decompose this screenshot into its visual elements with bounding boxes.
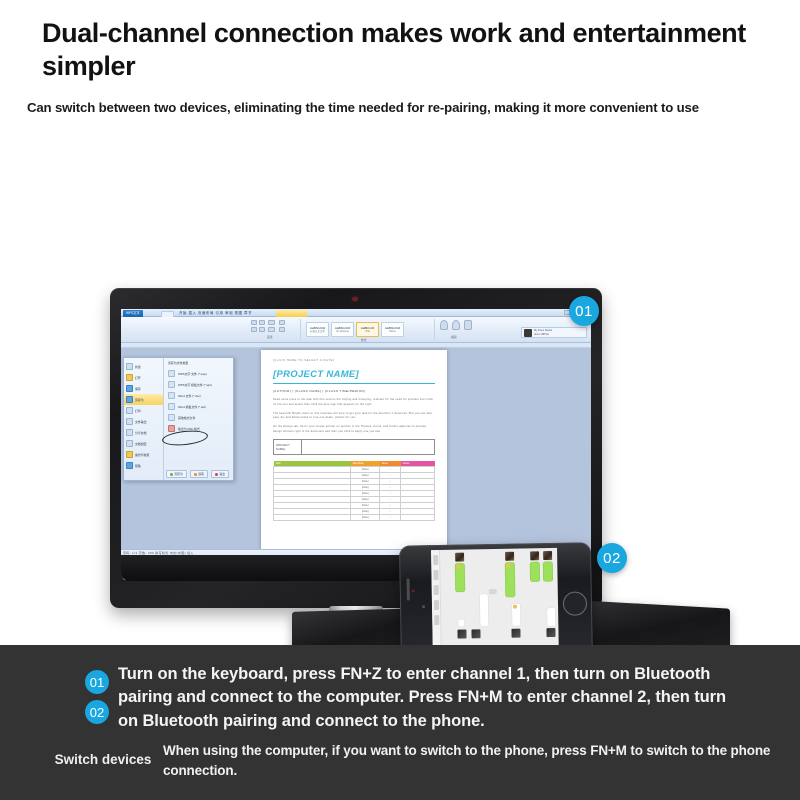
avatar[interactable] [543, 551, 552, 560]
menu-bar[interactable]: 开始 插入 页面布局 引用 审阅 视图 章节 [179, 310, 252, 315]
emoji-icon [506, 564, 510, 568]
save-icon [126, 385, 133, 392]
ribbon-group-label-paragraph: 段落 [267, 335, 273, 339]
folder-icon [126, 374, 133, 381]
backstage-item-print[interactable]: 打印 [124, 405, 163, 416]
phone-earpiece-icon [422, 605, 425, 608]
align-center-icon[interactable] [259, 327, 265, 332]
replace-icon[interactable] [452, 320, 460, 330]
line-spacing-icon[interactable] [268, 327, 275, 332]
style-no-spacing[interactable]: AaBbCcDd No Spacing [331, 322, 354, 337]
style-name[interactable]: AaBbCcDd Name [381, 322, 404, 337]
filetype-wps[interactable]: WPS文字 文件 (*.wps) [168, 368, 230, 379]
style-normal[interactable]: AaBbCcDd 标准正文文本 [306, 322, 329, 337]
chat-bubble[interactable] [458, 620, 464, 627]
rail-item[interactable] [434, 615, 439, 625]
cell-task [274, 515, 351, 521]
step-badge-01: 01 [85, 670, 109, 694]
cell-due: [Date] [351, 515, 380, 521]
rail-item[interactable] [433, 600, 438, 610]
style-title[interactable]: AaBbCcD Title [356, 322, 379, 337]
chat-bubble[interactable] [547, 608, 555, 626]
sort-icon[interactable] [279, 320, 285, 325]
filetype-wpt[interactable]: WPS文字 模板文件 (*.wpt) [168, 379, 230, 390]
rail-item[interactable] [433, 585, 438, 595]
step-badge-02: 02 [85, 700, 109, 724]
export-icon [126, 418, 133, 425]
find-icon[interactable] [440, 320, 448, 330]
ribbon-group-editing: 编辑 [437, 319, 477, 340]
avatar[interactable] [546, 628, 555, 637]
backstage-nav: 新建 打开 保存 另存为 打印 文件输出 分享文档 文档加密 备份与恢复 帮助 [124, 358, 164, 480]
save-as-heading: 另存为文件类型 [168, 361, 230, 365]
app-titlebar: WPS文字 开始 插入 页面布局 引用 审阅 视图 章节 [121, 309, 591, 317]
lock-icon [126, 440, 133, 447]
doc-title: [PROJECT NAME] [273, 369, 435, 380]
page-subtitle: Can switch between two devices, eliminat… [27, 100, 777, 115]
options-button[interactable]: 选项 [190, 470, 208, 478]
indent-icon[interactable] [268, 320, 275, 325]
switch-devices-label: Switch devices [48, 752, 158, 767]
filetype-doc[interactable]: Word 文件 (*.doc) [168, 390, 230, 401]
doc-title-rule [273, 383, 435, 384]
avatar[interactable] [505, 552, 514, 561]
chat-bubble[interactable] [480, 594, 489, 626]
emoji-icon [513, 605, 517, 609]
chat-bubble[interactable] [505, 563, 515, 597]
avatar[interactable] [471, 629, 480, 638]
photo-badge-01: 01 [569, 296, 599, 326]
doc-task-table: Task Due Date Done Notes [Date]○ [Date]○… [273, 461, 435, 522]
exit-button[interactable]: 退出 [211, 470, 229, 478]
ribbon-group-label-editing: 编辑 [451, 335, 457, 339]
ribbon-group-styles: AaBbCcDd 标准正文文本 AaBbCcDd No Spacing AaBb… [303, 319, 435, 340]
cell-notes [401, 515, 435, 521]
doc-file-icon [168, 392, 175, 399]
tab-wps-document[interactable]: WPS文字 [123, 310, 143, 317]
new-file-icon [126, 363, 133, 370]
exit-dot-icon [215, 473, 218, 476]
wpt-file-icon [168, 381, 175, 388]
backstage-item-save[interactable]: 保存 [124, 383, 163, 394]
ribbon-toolbar: 段落 AaBbCcDd 标准正文文本 AaBbCcDd No Spacing A… [121, 317, 591, 343]
phone-volume-button[interactable] [407, 579, 410, 601]
backstage-item-encrypt[interactable]: 文档加密 [124, 438, 163, 449]
save-dot-icon [170, 473, 173, 476]
switch-devices-instructions: When using the computer, if you want to … [163, 741, 778, 780]
product-photo: WPS文字 开始 插入 页面布局 引用 审阅 视图 章节 [0, 138, 800, 645]
avatar[interactable] [530, 551, 539, 560]
save-as-panel: 新建 打开 保存 另存为 打印 文件输出 分享文档 文档加密 备份与恢复 帮助 [123, 357, 234, 481]
doc-paragraph-1: Need some more to the task with this sec… [273, 398, 435, 408]
monitor-power-led-icon [352, 297, 358, 301]
backstage-item-new[interactable]: 新建 [124, 361, 163, 372]
tab-cloud-service[interactable] [276, 310, 307, 317]
save-as-icon [126, 396, 133, 403]
avatar[interactable] [511, 629, 520, 638]
help-icon [126, 462, 133, 469]
backstage-item-backup[interactable]: 备份与恢复 [124, 449, 163, 460]
backstage-item-help[interactable]: 帮助 [124, 460, 163, 471]
chat-bubble[interactable] [543, 562, 552, 581]
table-row: [Date]○ [274, 515, 435, 521]
backup-icon [126, 451, 133, 458]
rail-item[interactable] [433, 570, 438, 580]
backstage-item-share[interactable]: 分享文档 [124, 427, 163, 438]
avatar[interactable] [457, 630, 466, 639]
wps-file-icon [168, 370, 175, 377]
backstage-buttons: 另存为 选项 退出 [164, 470, 233, 478]
chat-timestamp [489, 589, 497, 594]
account-card[interactable]: My Docs Status docm.WPSer [521, 327, 587, 338]
cell-done: ○ [380, 515, 401, 521]
doc-paragraph-3: On the Design tab, hover your mouse poin… [273, 425, 435, 435]
filetype-dot[interactable]: Word 模板文件 (*.dot) [168, 401, 230, 412]
doc-field-label: [PROJECT NAME]: [274, 440, 302, 454]
shading-icon[interactable] [279, 327, 285, 332]
photo-badge-02: 02 [597, 543, 627, 573]
dot-file-icon [168, 403, 175, 410]
avatar[interactable] [455, 553, 464, 562]
chat-app [431, 548, 559, 645]
printer-icon [126, 407, 133, 414]
chat-side-rail [431, 550, 442, 645]
phone-camera-icon [412, 589, 415, 592]
share-icon [126, 429, 133, 436]
doc-paragraph-2: The beautiful Bright colors in this temp… [273, 412, 435, 422]
pairing-instructions: Turn on the keyboard, press FN+Z to ente… [118, 663, 738, 733]
backstage-item-open[interactable]: 打开 [124, 372, 163, 383]
chat-bubble[interactable] [530, 562, 539, 581]
filetype-other[interactable]: 其他格式文件 [168, 412, 230, 423]
document-workspace: [CLICK HERE TO SELECT A DATE] [PROJECT N… [121, 348, 591, 565]
document-page: [CLICK HERE TO SELECT A DATE] [PROJECT N… [261, 350, 447, 565]
account-avatar [524, 329, 532, 337]
smartphone [399, 542, 593, 645]
tab-new-document[interactable] [161, 311, 174, 317]
header-section: Dual-channel connection makes work and e… [0, 0, 800, 140]
rail-item[interactable] [433, 555, 438, 565]
pdf-file-icon [168, 425, 175, 432]
promo-page: Dual-channel connection makes work and e… [0, 0, 800, 800]
align-left-icon[interactable] [251, 327, 257, 332]
options-dot-icon [194, 473, 197, 476]
page-title: Dual-channel connection makes work and e… [42, 17, 777, 83]
account-info: My Docs Status docm.WPSer [534, 329, 552, 336]
emoji-icon [456, 565, 460, 569]
save-as-button[interactable]: 另存为 [166, 470, 187, 478]
doc-subtitle: [AUTHOR] | [CLASS NAME] | [CLASS TIME/PE… [273, 389, 435, 393]
other-file-icon [168, 414, 175, 421]
phone-screen [431, 548, 559, 645]
ribbon-group-label-styles: 样式 [361, 338, 367, 342]
doc-date-placeholder[interactable]: [CLICK HERE TO SELECT A DATE] [273, 358, 435, 362]
backstage-item-export[interactable]: 文件输出 [124, 416, 163, 427]
monitor-screen: WPS文字 开始 插入 页面布局 引用 审阅 视图 章节 [121, 309, 591, 581]
save-as-filetypes: 另存为文件类型 WPS文字 文件 (*.wps) WPS文字 模板文件 (*.w… [164, 358, 233, 480]
doc-field-box: [PROJECT NAME]: [273, 439, 435, 455]
phone-home-button[interactable] [563, 591, 587, 615]
ribbon-group-paragraph: 段落 [249, 319, 301, 340]
backstage-item-save-as[interactable]: 另存为 [124, 394, 163, 405]
doc-field-value[interactable] [302, 440, 434, 454]
bullets-icon[interactable] [251, 320, 257, 325]
select-icon[interactable] [464, 320, 472, 330]
numbering-icon[interactable] [259, 320, 265, 325]
